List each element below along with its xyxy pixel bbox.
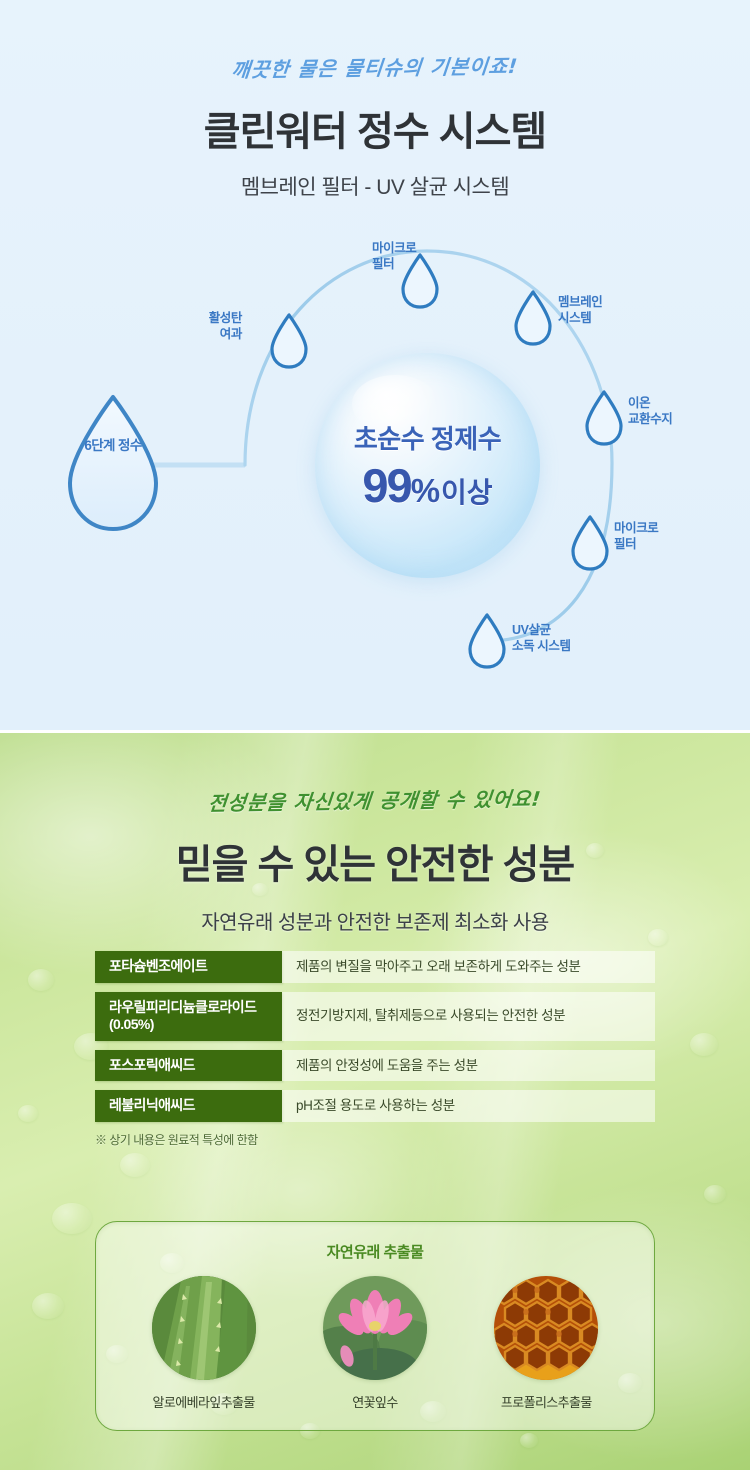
purity-number: 99 [362,458,410,513]
list-item: 알로에베라잎추출물 [129,1276,279,1411]
step-label-3: 멤브레인 시스템 [558,295,668,326]
step-label-2: 마이크로 필터 [372,241,482,272]
natural-extracts-panel: 자연유래 추출물 [95,1221,655,1431]
extract-name: 프로폴리스추출물 [471,1392,621,1411]
safe-ingredients-section: 전성분을 자신있게 공개할 수 있어요! 믿을 수 있는 안전한 성분 자연유래… [0,733,750,1470]
step-droplet-4 [587,392,621,444]
step-droplet-1 [272,315,306,367]
blue-section-title: 클린워터 정수 시스템 [0,99,750,157]
list-item: 연꽃잎수 [300,1276,450,1411]
product-detail-page: 깨끗한 물은 물티슈의 기본이죠! 클린워터 정수 시스템 멤브레인 필터 - … [0,0,750,1480]
table-row: 라우릴피리디늄클로라이드 (0.05%) 정전기방지제, 탈취제등으로 사용되는… [95,992,655,1041]
purity-bubble-text: 초순수 정제수 99 % 이상 [315,353,540,578]
ingredient-description: 정전기방지제, 탈취제등으로 사용되는 안전한 성분 [282,992,655,1041]
extract-name: 알로에베라잎추출물 [129,1392,279,1411]
blue-header-block: 깨끗한 물은 물티슈의 기본이죠! 클린워터 정수 시스템 멤브레인 필터 - … [0,0,750,201]
purification-flow-diagram: 초순수 정제수 99 % 이상 6단계 정수 활성탄 여과 마이크로 필터 멤브… [0,215,750,715]
purity-percent-sign: % [411,472,440,510]
extract-name: 연꽃잎수 [300,1392,450,1411]
green-header-block: 전성분을 자신있게 공개할 수 있어요! 믿을 수 있는 안전한 성분 자연유래… [0,733,750,935]
ingredient-name: 레불리닉애씨드 [95,1090,282,1122]
purity-label: 초순수 정제수 [354,419,501,456]
main-droplet-label: 6단계 정수 [75,437,151,455]
blue-script-accent: 깨끗한 물은 물티슈의 기본이죠! [0,47,750,86]
extracts-title: 자연유래 추출물 [96,1241,654,1262]
step-droplet-6 [470,615,504,667]
extracts-list: 알로에베라잎추출물 [96,1276,654,1411]
ingredient-name: 포타슘벤조에이트 [95,951,282,983]
ingredient-name: 포스포릭애씨드 [95,1050,282,1082]
list-item: 프로폴리스추출물 [471,1276,621,1411]
step-label-4: 이온 교환수지 [628,396,738,427]
purity-suffix: 이상 [441,471,493,511]
page-bottom-spacer [0,1470,750,1480]
main-droplet-6step [70,397,156,529]
ingredient-description: pH조절 용도로 사용하는 성분 [282,1090,655,1122]
honeycomb-propolis-photo [494,1276,598,1380]
ingredient-name: 라우릴피리디늄클로라이드 (0.05%) [95,992,282,1041]
clean-water-system-section: 깨끗한 물은 물티슈의 기본이죠! 클린워터 정수 시스템 멤브레인 필터 - … [0,0,750,730]
step-label-6: UV살균 소독 시스템 [512,623,642,654]
green-section-title: 믿을 수 있는 안전한 성분 [0,832,750,890]
aloe-leaf-photo [152,1276,256,1380]
green-section-subtitle: 자연유래 성분과 안전한 보존제 최소화 사용 [0,906,750,935]
ingredient-description: 제품의 변질을 막아주고 오래 보존하게 도와주는 성분 [282,951,655,983]
table-row: 포스포릭애씨드 제품의 안정성에 도움을 주는 성분 [95,1050,655,1082]
purity-value-row: 99 % 이상 [362,458,492,513]
step-label-5: 마이크로 필터 [614,521,724,552]
blue-section-subtitle: 멤브레인 필터 - UV 살균 시스템 [0,171,750,201]
lotus-flower-photo [323,1276,427,1380]
ingredient-note: ※ 상기 내용은 원료적 특성에 한함 [95,1131,655,1148]
green-script-accent: 전성분을 자신있게 공개할 수 있어요! [0,780,750,819]
step-droplet-5 [573,517,607,569]
table-row: 레불리닉애씨드 pH조절 용도로 사용하는 성분 [95,1090,655,1122]
table-row: 포타슘벤조에이트 제품의 변질을 막아주고 오래 보존하게 도와주는 성분 [95,951,655,983]
ingredient-description: 제품의 안정성에 도움을 주는 성분 [282,1050,655,1082]
step-label-1: 활성탄 여과 [150,311,242,342]
ingredient-table: 포타슘벤조에이트 제품의 변질을 막아주고 오래 보존하게 도와주는 성분 라우… [95,951,655,1148]
